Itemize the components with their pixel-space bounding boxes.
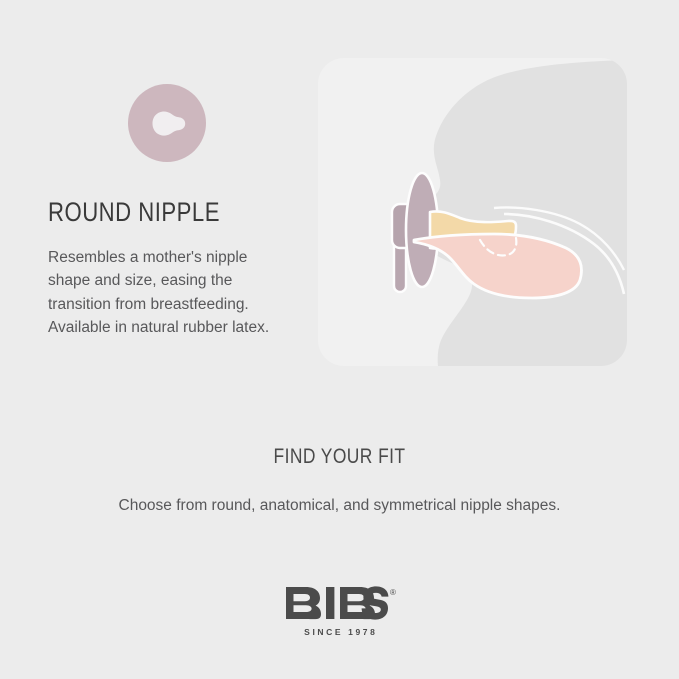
brand-tagline: SINCE 1978 [0,627,679,637]
feature-description: Resembles a mother's nipple shape and si… [48,246,293,340]
tongue-shape [414,234,581,298]
feature-block: ROUND NIPPLE Resembles a mother's nipple… [48,84,298,340]
bibs-wordmark: ® [284,586,396,620]
registered-trademark-symbol: ® [390,588,396,597]
find-your-fit-section: FIND YOUR FIT Choose from round, anatomi… [0,444,679,517]
heart-icon [298,596,304,601]
illustration-card [318,58,627,366]
brand-logo: ® SINCE 1978 [0,586,679,637]
feature-heading: ROUND NIPPLE [48,198,253,228]
find-your-fit-subtitle: Choose from round, anatomical, and symme… [0,495,679,517]
pacifier-in-mouth-illustration [318,58,627,366]
round-nipple-icon [128,84,206,162]
infographic-root: ROUND NIPPLE Resembles a mother's nipple… [0,0,679,679]
find-your-fit-heading: FIND YOUR FIT [58,444,622,469]
